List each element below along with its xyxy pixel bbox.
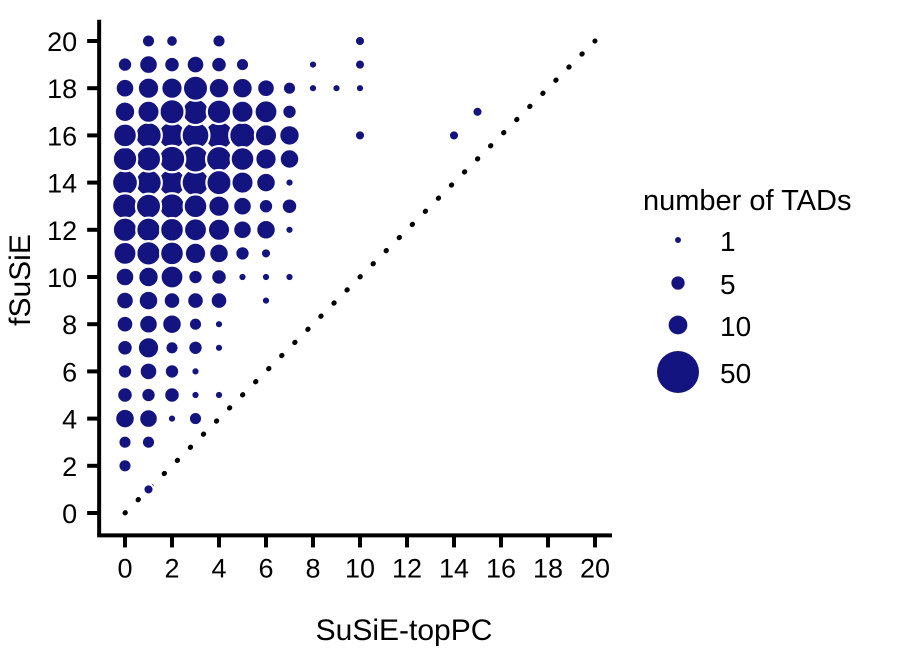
- legend-label: 1: [720, 226, 736, 257]
- data-point: [184, 218, 207, 241]
- data-point: [206, 170, 231, 195]
- y-tick-label: 8: [62, 310, 77, 340]
- data-point: [206, 146, 232, 172]
- data-point: [113, 242, 136, 265]
- y-tick-label: 16: [47, 121, 77, 151]
- data-point: [160, 218, 184, 242]
- bubble-chart: 02468101214161820 02468101214161820 SuSi…: [0, 0, 900, 660]
- data-point: [309, 84, 317, 92]
- data-point: [188, 341, 203, 356]
- figure-root: 02468101214161820 02468101214161820 SuSi…: [0, 0, 900, 660]
- data-point: [113, 147, 137, 171]
- x-tick-label: 10: [345, 553, 375, 583]
- data-point: [285, 178, 293, 186]
- data-point: [143, 484, 153, 494]
- data-point: [231, 101, 253, 123]
- data-point: [118, 459, 131, 472]
- x-tick-label: 2: [164, 553, 179, 583]
- data-point: [116, 79, 135, 98]
- y-tick-label: 18: [47, 74, 77, 104]
- data-point: [141, 388, 156, 403]
- data-point: [355, 59, 365, 69]
- data-point: [262, 296, 270, 304]
- data-point: [261, 248, 271, 258]
- data-point: [207, 100, 231, 124]
- data-point: [187, 292, 204, 309]
- data-point: [472, 107, 482, 117]
- data-point: [139, 315, 158, 334]
- data-point: [189, 318, 202, 331]
- data-point: [235, 246, 250, 261]
- data-point: [136, 241, 160, 265]
- data-point: [168, 414, 176, 422]
- y-tick-label: 10: [47, 263, 77, 293]
- data-point: [449, 130, 459, 140]
- data-point: [283, 82, 296, 95]
- data-point: [191, 367, 199, 375]
- data-point: [208, 195, 229, 216]
- y-tick-label: 0: [62, 499, 77, 529]
- x-tick-label: 8: [305, 553, 320, 583]
- data-point: [209, 78, 230, 99]
- data-point: [332, 84, 340, 92]
- data-point: [135, 122, 162, 149]
- data-point: [255, 148, 276, 169]
- data-point: [215, 320, 223, 328]
- data-point: [211, 57, 227, 73]
- data-point: [209, 244, 229, 264]
- data-point: [160, 265, 183, 288]
- data-point: [282, 105, 297, 120]
- data-point: [233, 220, 252, 239]
- data-point: [185, 243, 206, 264]
- legend-title: number of TADs: [643, 185, 851, 217]
- data-point: [116, 268, 135, 287]
- data-point: [231, 171, 253, 193]
- data-point: [112, 170, 138, 196]
- data-point: [233, 197, 252, 216]
- data-point: [135, 169, 162, 196]
- data-point: [118, 364, 133, 379]
- data-point: [115, 409, 135, 429]
- y-tick-label: 14: [47, 169, 77, 199]
- legend-marker: [671, 276, 684, 289]
- data-point: [162, 314, 182, 334]
- data-point: [138, 267, 159, 288]
- legend-label: 50: [720, 358, 751, 389]
- data-point: [215, 391, 223, 399]
- data-point: [188, 270, 203, 285]
- legend-label: 5: [720, 269, 736, 300]
- data-point: [184, 194, 208, 218]
- legend-marker: [669, 316, 688, 335]
- data-point: [256, 220, 276, 240]
- data-point: [136, 146, 161, 171]
- x-tick-label: 12: [392, 553, 422, 583]
- data-point: [164, 292, 181, 309]
- data-point: [282, 198, 298, 214]
- data-point: [257, 79, 275, 97]
- data-point: [215, 344, 223, 352]
- data-point: [139, 291, 159, 311]
- x-axis-title: SuSiE-topPC: [316, 614, 493, 647]
- data-point: [280, 149, 300, 169]
- data-point: [256, 173, 276, 193]
- data-point: [118, 436, 131, 449]
- legend-marker: [675, 237, 681, 243]
- data-point: [117, 316, 134, 333]
- data-point: [164, 57, 180, 73]
- data-point: [355, 36, 365, 46]
- data-point: [142, 34, 155, 47]
- data-point: [182, 99, 209, 126]
- x-tick-label: 20: [580, 553, 610, 583]
- data-point: [139, 55, 158, 74]
- y-axis-title: fSuSiE: [4, 234, 37, 326]
- data-point: [166, 35, 178, 47]
- x-tick-label: 14: [439, 553, 469, 583]
- data-point: [262, 273, 270, 281]
- data-point: [112, 193, 138, 219]
- x-tick-label: 0: [117, 553, 132, 583]
- y-tick-label: 2: [62, 452, 77, 482]
- data-point: [139, 409, 158, 428]
- data-point: [136, 218, 160, 242]
- data-point: [355, 130, 365, 140]
- legend-label: 10: [720, 311, 751, 342]
- data-point: [285, 226, 293, 234]
- data-point: [191, 391, 199, 399]
- data-point: [137, 101, 159, 123]
- data-point: [116, 292, 134, 310]
- data-point: [113, 218, 137, 242]
- data-point: [211, 292, 228, 309]
- data-point: [236, 58, 249, 71]
- y-tick-label: 6: [62, 357, 77, 387]
- data-point: [255, 124, 277, 146]
- data-point: [140, 362, 158, 380]
- data-point: [279, 125, 300, 146]
- data-point: [136, 194, 161, 219]
- data-point: [118, 57, 133, 72]
- y-tick-label: 12: [47, 216, 77, 246]
- data-point: [165, 341, 178, 354]
- data-point: [259, 199, 274, 214]
- data-point: [165, 364, 180, 379]
- data-point: [138, 77, 159, 98]
- data-point: [309, 60, 317, 68]
- data-point: [212, 34, 225, 47]
- data-point: [211, 269, 227, 285]
- data-point: [254, 100, 277, 123]
- data-point: [161, 77, 182, 98]
- x-tick-label: 4: [211, 553, 226, 583]
- data-point: [164, 387, 180, 403]
- data-point: [183, 76, 208, 101]
- data-point: [138, 337, 159, 358]
- y-tick-label: 20: [47, 27, 77, 57]
- data-point: [187, 56, 205, 74]
- x-tick-label: 16: [486, 553, 516, 583]
- data-point: [285, 273, 293, 281]
- x-tick-label: 6: [258, 553, 273, 583]
- y-tick-label: 4: [62, 405, 77, 435]
- data-point: [189, 412, 202, 425]
- data-point: [232, 78, 253, 99]
- data-point: [115, 102, 136, 123]
- data-point: [159, 193, 185, 219]
- data-point: [238, 273, 246, 281]
- data-point: [160, 242, 184, 266]
- data-point: [142, 436, 155, 449]
- data-point: [231, 147, 255, 171]
- data-point: [113, 124, 137, 148]
- data-point: [356, 84, 364, 92]
- data-point: [208, 219, 230, 241]
- data-point: [159, 146, 186, 173]
- data-point: [117, 340, 133, 356]
- data-point: [117, 387, 133, 403]
- x-tick-label: 18: [533, 553, 563, 583]
- data-point: [229, 122, 256, 149]
- data-point: [159, 99, 184, 124]
- legend-marker: [657, 351, 699, 393]
